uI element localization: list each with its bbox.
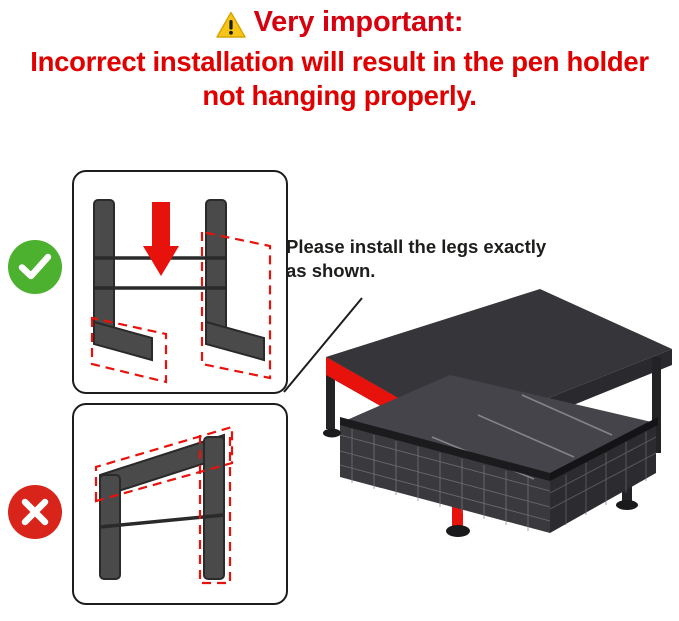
leg-left — [94, 200, 152, 360]
incorrect-leg-orientation-panel — [72, 403, 288, 605]
warning-triangle-icon — [216, 11, 246, 39]
leg-frame-wrong — [100, 435, 224, 579]
heading-line-2: Incorrect installation will result in th… — [0, 45, 679, 112]
correct-status-badge — [8, 240, 62, 294]
heading-title-text: Very important: — [254, 6, 464, 39]
cross-mark-icon — [20, 497, 50, 527]
incorrect-status-badge — [8, 485, 62, 539]
dashed-highlight — [92, 232, 270, 382]
correct-leg-orientation-panel — [72, 170, 288, 394]
installation-diagram: Please install the legs exactly as shown… — [0, 140, 679, 621]
warning-heading: Very important: Incorrect installation w… — [0, 0, 679, 112]
check-mark-icon — [18, 252, 52, 282]
down-arrow-icon — [143, 202, 179, 276]
heading-line-1: Very important: — [0, 6, 679, 39]
leg-right — [206, 200, 264, 360]
mesh-desk-organizer-photo — [282, 265, 679, 555]
